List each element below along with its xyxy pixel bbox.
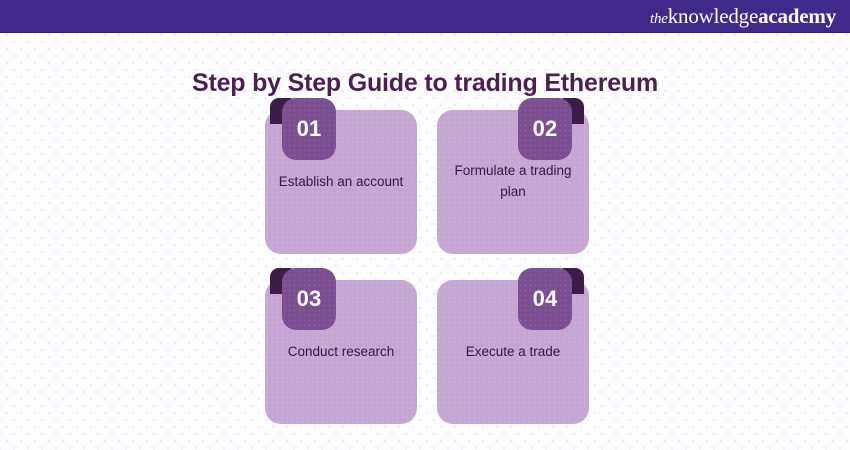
- step-number-02: 02: [533, 118, 558, 140]
- step-number-03: 03: [297, 288, 322, 310]
- step-badge-01: 01: [282, 98, 336, 160]
- logo-word-academy: academy: [758, 4, 836, 28]
- step-badge-03: 03: [282, 268, 336, 330]
- steps-grid: 01 Establish an account 02 Formulate a t…: [265, 98, 590, 424]
- logo-word-knowledge: knowledge: [668, 4, 758, 28]
- step-card-01[interactable]: 01 Establish an account: [265, 98, 417, 254]
- step-badge-02: 02: [518, 98, 572, 160]
- step-number-01: 01: [297, 118, 322, 140]
- page-title: Step by Step Guide to trading Ethereum: [0, 69, 850, 98]
- theknowledgeacademy-logo[interactable]: theknowledgeacademy: [650, 6, 836, 27]
- step-badge-04: 04: [518, 268, 572, 330]
- infographic-page: theknowledgeacademy Step by Step Guide t…: [0, 0, 850, 450]
- step-number-04: 04: [533, 288, 558, 310]
- logo-word-the: the: [650, 11, 668, 27]
- step-card-02[interactable]: 02 Formulate a trading plan: [437, 98, 589, 254]
- step-card-03[interactable]: 03 Conduct research: [265, 268, 417, 424]
- step-card-04[interactable]: 04 Execute a trade: [437, 268, 589, 424]
- header-bar: theknowledgeacademy: [0, 0, 850, 33]
